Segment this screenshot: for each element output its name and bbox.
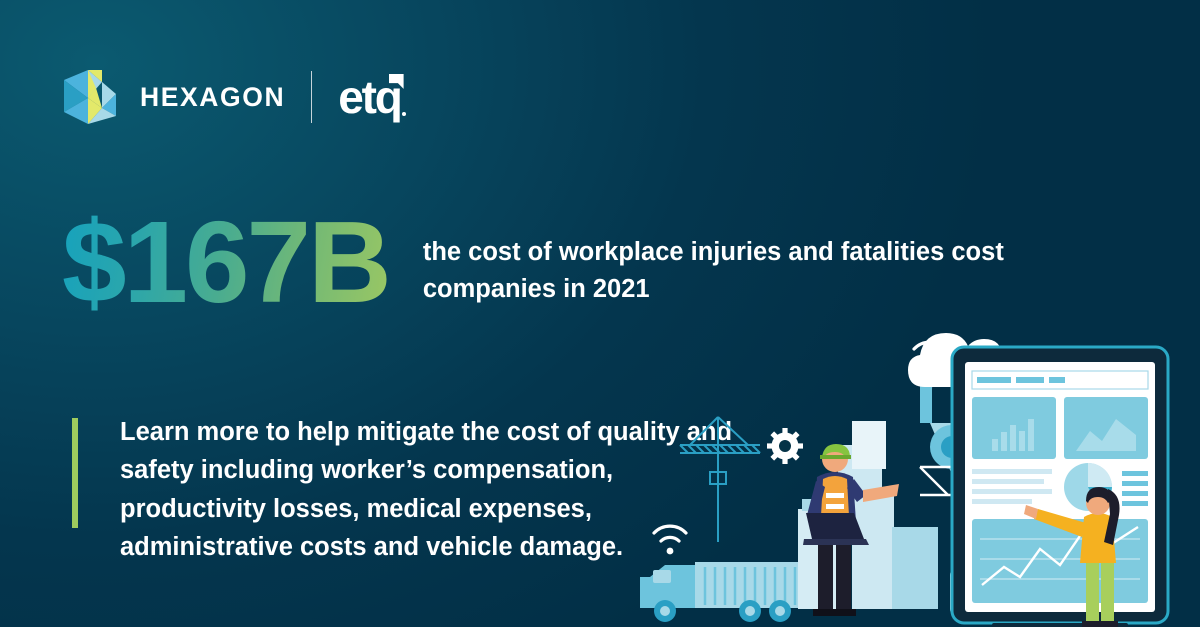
- factory-block: [802, 499, 842, 511]
- accent-bar: [72, 418, 78, 528]
- truss: [920, 455, 1050, 527]
- delivery-truck: [640, 562, 815, 622]
- worker-with-laptop: [803, 421, 899, 616]
- wifi-icon: [1120, 482, 1144, 504]
- pie-chart: [1064, 463, 1112, 511]
- text-lines: [972, 469, 1052, 504]
- area-chart-card: [1064, 397, 1148, 459]
- stat-figure: $167B: [62, 206, 395, 320]
- robot-arm-small: [946, 395, 1088, 489]
- tablet-device: [952, 347, 1168, 627]
- analyst-pointing: [1024, 487, 1120, 627]
- brand-divider: [311, 71, 312, 123]
- factory-block: [798, 509, 846, 609]
- line-chart-card: [972, 519, 1148, 603]
- robot-arm: [920, 359, 1072, 617]
- bar-chart-card: [972, 397, 1056, 459]
- factory-block: [892, 527, 938, 609]
- cloud-server-icon: [908, 333, 1014, 391]
- tablet-dashboard: [972, 371, 1148, 603]
- gear-icon: [767, 428, 803, 464]
- stat-caption: the cost of workplace injuries and fatal…: [423, 234, 1013, 308]
- body-block: Learn more to help mitigate the cost of …: [72, 413, 772, 566]
- technician-with-tablet: [1082, 463, 1140, 603]
- wifi-icon: [914, 342, 946, 370]
- brand-lockup: HEXAGON etq: [62, 68, 401, 126]
- promo-banner: HEXAGON etq $167B the cost of workplace …: [0, 0, 1200, 627]
- body-paragraph: Learn more to help mitigate the cost of …: [120, 413, 760, 566]
- etq-dot-icon: [402, 112, 406, 116]
- headline-row: $167B the cost of workplace injuries and…: [62, 206, 1122, 320]
- hexagon-logo-icon: [62, 68, 118, 126]
- etq-logo: etq: [338, 76, 400, 118]
- wifi-icon: [823, 510, 853, 537]
- legend-bars: [1122, 471, 1148, 506]
- factory-block: [852, 487, 894, 609]
- hexagon-wordmark: HEXAGON: [140, 84, 285, 111]
- conveyor-belt: [1050, 565, 1160, 600]
